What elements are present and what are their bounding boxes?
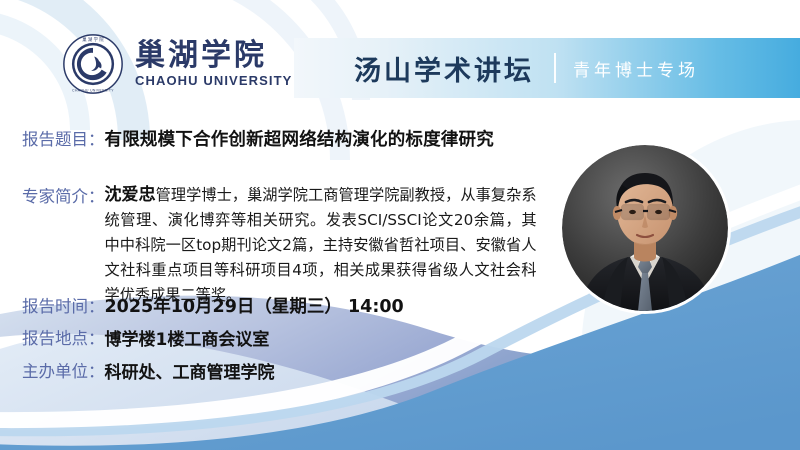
- speaker-bio-label: 专家简介：: [22, 183, 105, 207]
- organizer-label: 主办单位：: [22, 358, 105, 382]
- speaker-bio-row: 专家简介： 沈爱忠管理学博士，巢湖学院工商管理学院副教授，从事复杂系统管理、演化…: [22, 183, 552, 308]
- report-title-label: 报告题目：: [22, 126, 105, 150]
- speaker-name: 沈爱忠: [105, 185, 156, 205]
- organizer-value: 科研处、工商管理学院: [105, 358, 275, 383]
- speaker-portrait: [562, 145, 728, 311]
- report-time-row: 报告时间： 2025年10月29日（星期三） 14:00: [22, 293, 404, 318]
- report-time-label: 报告时间：: [22, 293, 105, 317]
- speaker-bio-text: 沈爱忠管理学博士，巢湖学院工商管理学院副教授，从事复杂系统管理、演化博弈等相关研…: [105, 183, 537, 308]
- speaker-bio-body: 管理学博士，巢湖学院工商管理学院副教授，从事复杂系统管理、演化博弈等相关研究。发…: [105, 186, 537, 304]
- report-place-value: 博学楼1楼工商会议室: [105, 325, 270, 350]
- report-place-label: 报告地点：: [22, 325, 105, 349]
- poster-canvas: 汤山学术讲坛 青年博士专场 巢 湖 学 院 CHAOHU UNIVERSITY …: [0, 0, 800, 450]
- report-title-row: 报告题目： 有限规模下合作创新超网络结构演化的标度律研究: [22, 126, 494, 151]
- report-title-value: 有限规模下合作创新超网络结构演化的标度律研究: [105, 126, 494, 151]
- organizer-row: 主办单位： 科研处、工商管理学院: [22, 358, 275, 383]
- report-time-value: 2025年10月29日（星期三） 14:00: [105, 293, 404, 318]
- report-place-row: 报告地点： 博学楼1楼工商会议室: [22, 325, 269, 350]
